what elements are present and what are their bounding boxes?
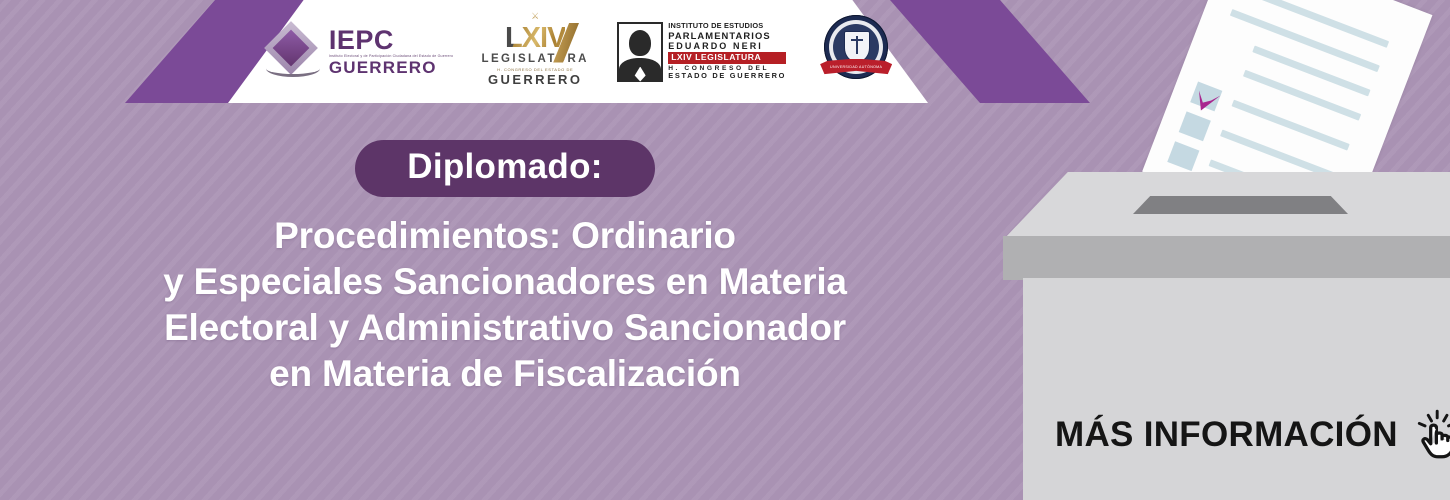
ien-line-3: EDUARDO NERI <box>668 41 786 51</box>
ien-line-2: PARLAMENTARIOS <box>668 31 786 42</box>
lxiv-legislatura-label: LEGISLATURA <box>482 54 589 66</box>
ballot-slot <box>1133 196 1348 214</box>
iepc-title: IEPC <box>329 27 453 54</box>
ien-badge: LXIV LEGISLATURA <box>668 52 786 64</box>
course-title-line-3: Electoral y Administrativo Sancionador <box>161 305 849 351</box>
course-title-line-1: Procedimientos: Ordinario <box>161 213 849 259</box>
more-information-label: MÁS INFORMACIÓN <box>1055 417 1398 452</box>
logo-universidad-seal: UNIVERSIDAD AUTÓNOMA <box>820 13 892 91</box>
promo-banner: IEPC Instituto Electoral y de Participac… <box>0 0 1450 500</box>
title-block: Diplomado: Procedimientos: Ordinario y E… <box>0 140 1010 397</box>
course-title-line-4: en Materia de Fiscalización <box>161 351 849 397</box>
ballot-lid-side <box>1003 236 1450 280</box>
ien-line-6: ESTADO DE GUERRERO <box>668 72 786 80</box>
diplomado-badge: Diplomado: <box>355 140 654 197</box>
logo-row: IEPC Instituto Electoral y de Participac… <box>228 0 928 103</box>
click-hand-icon <box>1412 408 1450 460</box>
course-title-line-2: y Especiales Sancionadores en Materia <box>161 259 849 305</box>
logo-iepc-guerrero: IEPC Instituto Electoral y de Participac… <box>264 27 453 77</box>
iepc-diamond-icon <box>264 27 322 77</box>
more-information-cta[interactable]: MÁS INFORMACIÓN <box>1055 408 1450 460</box>
ballot-box-body <box>1023 278 1450 500</box>
seal-shield-icon <box>844 31 870 62</box>
eduardo-neri-portrait-icon <box>617 22 663 82</box>
logo-lxiv-legislatura: ⚔ LXIV LEGISLATURA H. CONGRESO DEL ESTAD… <box>487 12 583 92</box>
lxiv-roman-numeral: LXIV <box>505 24 565 53</box>
seal-ribbon-text: UNIVERSIDAD AUTÓNOMA <box>820 65 892 69</box>
iepc-subtitle: GUERRERO <box>329 59 453 76</box>
logo-instituto-eduardo-neri: INSTITUTO DE ESTUDIOS PARLAMENTARIOS EDU… <box>617 15 786 89</box>
course-title: Procedimientos: Ordinario y Especiales S… <box>161 213 849 397</box>
lxiv-crest-icon: ⚔ <box>531 12 539 21</box>
lxiv-guerrero-label: GUERRERO <box>488 73 582 86</box>
